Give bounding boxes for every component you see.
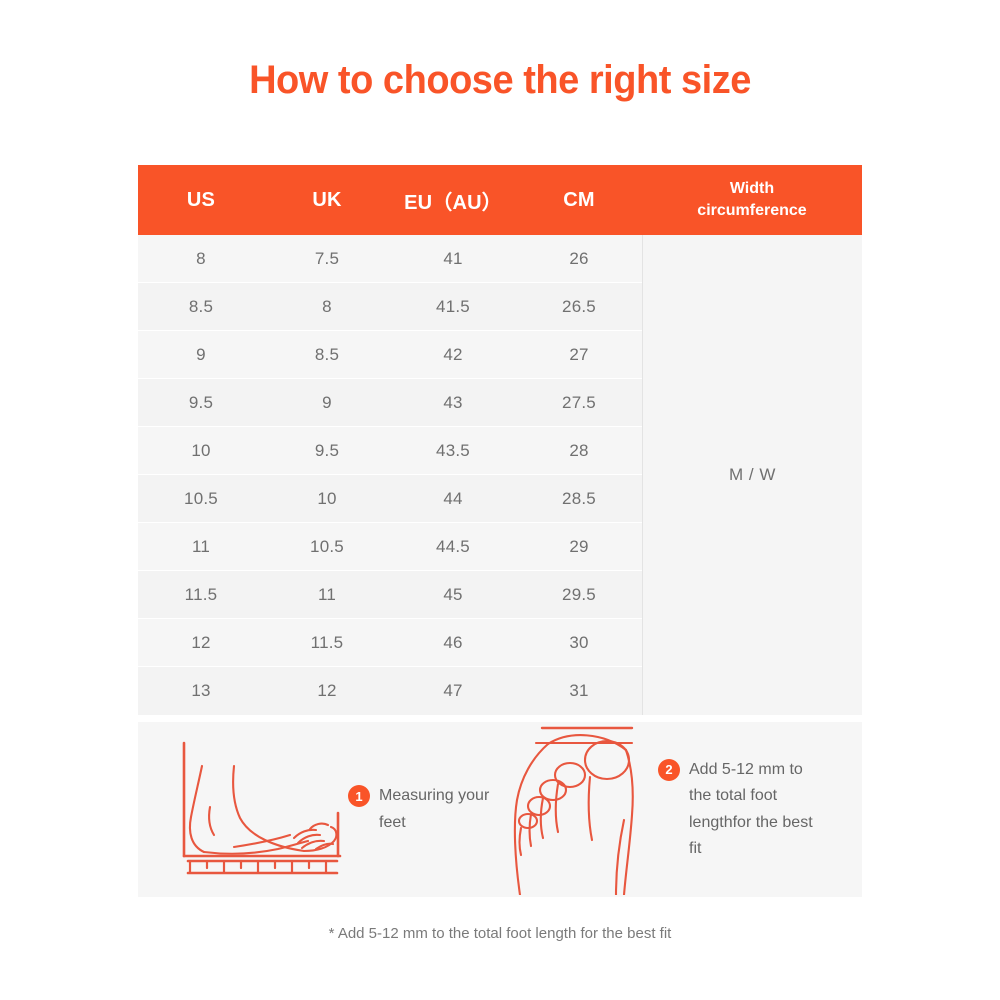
- step-1-number-badge: 1: [348, 785, 370, 807]
- cell-uk: 8: [264, 297, 390, 317]
- table-row: 8 7.5 41 26: [138, 235, 642, 283]
- cell-cm: 27: [516, 345, 642, 365]
- table-row: 11 10.5 44.5 29: [138, 523, 642, 571]
- cell-eu: 41: [390, 249, 516, 269]
- cell-us: 11: [138, 537, 264, 557]
- table-header-row: US UK EU（AU） CM Width circumference: [138, 165, 862, 235]
- cell-cm: 26.5: [516, 297, 642, 317]
- cell-us: 12: [138, 633, 264, 653]
- cell-us: 13: [138, 681, 264, 701]
- cell-uk: 9: [264, 393, 390, 413]
- cell-us: 10: [138, 441, 264, 461]
- table-row: 10 9.5 43.5 28: [138, 427, 642, 475]
- width-header-line-2: circumference: [697, 200, 806, 222]
- cell-uk: 7.5: [264, 249, 390, 269]
- cell-us: 9.5: [138, 393, 264, 413]
- step-1-caption: 1 Measuring your feet: [348, 783, 508, 836]
- size-rows: 8 7.5 41 26 8.5 8 41.5 26.5 9 8.5 42 27: [138, 235, 642, 715]
- step-1-label: Measuring your feet: [379, 783, 508, 836]
- header-size-columns: US UK EU（AU） CM: [138, 165, 642, 235]
- size-chart-table: US UK EU（AU） CM Width circumference 8 7.…: [138, 165, 862, 715]
- table-row: 11.5 11 45 29.5: [138, 571, 642, 619]
- table-row: 12 11.5 46 30: [138, 619, 642, 667]
- cell-eu: 47: [390, 681, 516, 701]
- step-2-block: 2 Add 5-12 mm to the total foot lengthfo…: [508, 722, 862, 897]
- cell-width-circumference: M / W: [642, 235, 862, 715]
- cell-eu: 44.5: [390, 537, 516, 557]
- step-2-number-badge: 2: [658, 759, 680, 781]
- cell-cm: 31: [516, 681, 642, 701]
- column-header-width-circumference: Width circumference: [642, 165, 862, 235]
- width-header-line-1: Width: [697, 178, 806, 200]
- cell-eu: 46: [390, 633, 516, 653]
- size-guide-page: How to choose the right size US UK EU（AU…: [0, 0, 1000, 1000]
- table-body: 8 7.5 41 26 8.5 8 41.5 26.5 9 8.5 42 27: [138, 235, 862, 715]
- cell-cm: 26: [516, 249, 642, 269]
- cell-cm: 29: [516, 537, 642, 557]
- column-header-cm: CM: [516, 165, 642, 235]
- table-row: 9 8.5 42 27: [138, 331, 642, 379]
- cell-eu: 45: [390, 585, 516, 605]
- cell-us: 8.5: [138, 297, 264, 317]
- cell-uk: 10: [264, 489, 390, 509]
- step-2-caption: 2 Add 5-12 mm to the total foot lengthfo…: [658, 757, 824, 863]
- column-header-eu: EU（AU）: [390, 165, 516, 235]
- cell-eu: 43: [390, 393, 516, 413]
- table-row: 8.5 8 41.5 26.5: [138, 283, 642, 331]
- cell-us: 9: [138, 345, 264, 365]
- cell-cm: 28.5: [516, 489, 642, 509]
- cell-us: 10.5: [138, 489, 264, 509]
- foot-side-view-with-ruler-icon: [138, 725, 348, 895]
- cell-eu: 44: [390, 489, 516, 509]
- page-title: How to choose the right size: [25, 58, 975, 103]
- cell-eu: 42: [390, 345, 516, 365]
- cell-eu: 41.5: [390, 297, 516, 317]
- cell-cm: 29.5: [516, 585, 642, 605]
- cell-uk: 10.5: [264, 537, 390, 557]
- cell-uk: 8.5: [264, 345, 390, 365]
- cell-cm: 27.5: [516, 393, 642, 413]
- table-row: 13 12 47 31: [138, 667, 642, 715]
- cell-cm: 30: [516, 633, 642, 653]
- measurement-instructions-panel: 1 Measuring your feet: [138, 722, 862, 897]
- cell-us: 8: [138, 249, 264, 269]
- column-header-us: US: [138, 165, 264, 235]
- step-2-label: Add 5-12 mm to the total foot lengthfor …: [689, 757, 824, 863]
- cell-uk: 11: [264, 585, 390, 605]
- table-row: 10.5 10 44 28.5: [138, 475, 642, 523]
- table-row: 9.5 9 43 27.5: [138, 379, 642, 427]
- step-1-block: 1 Measuring your feet: [138, 722, 508, 897]
- cell-uk: 11.5: [264, 633, 390, 653]
- cell-eu: 43.5: [390, 441, 516, 461]
- column-header-uk: UK: [264, 165, 390, 235]
- cell-uk: 9.5: [264, 441, 390, 461]
- cell-uk: 12: [264, 681, 390, 701]
- cell-cm: 28: [516, 441, 642, 461]
- footnote-text: * Add 5-12 mm to the total foot length f…: [0, 925, 1000, 942]
- foot-top-view-toes-icon: [508, 720, 658, 900]
- cell-us: 11.5: [138, 585, 264, 605]
